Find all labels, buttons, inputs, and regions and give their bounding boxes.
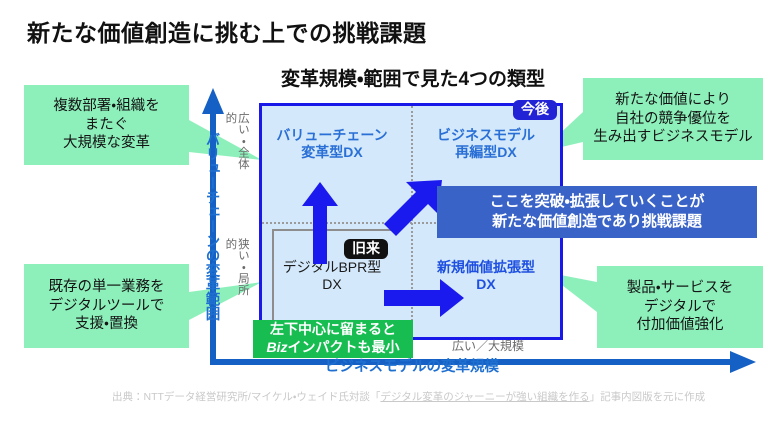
quadrant-br-line1: 新規価値拡張型: [414, 259, 558, 276]
callout-bl-line2: デジタルツールで: [49, 297, 165, 316]
banner-line1: ここを突破・拡張していくことが: [490, 192, 705, 212]
axis-x-label: ビジネスモデルの変革規模: [272, 355, 552, 376]
axis-x-tick-right: 広い／大規模: [452, 340, 524, 353]
highlight-banner: ここを突破・拡張していくことが 新たな価値創造であり挑戦課題: [437, 186, 757, 238]
quadrant-tr-line2: 再編型DX: [414, 144, 558, 161]
callout-bottom-center: 左下中心に留まると Bizインパクトも最小: [253, 320, 413, 358]
arrow-diagonal-up-right: [378, 178, 444, 244]
quadrant-tl-line2: 変革型DX: [262, 144, 402, 161]
quadrant-tr-line1: ビジネスモデル: [414, 127, 558, 144]
callout-bottom-right: 製品・サービスを デジタルで 付加価値強化: [597, 266, 763, 348]
callout-bl-line3: 支援・置換: [75, 315, 138, 334]
callout-tr-line3: 生み出すビジネスモデル: [593, 128, 753, 147]
callout-bottom-left: 既存の単一業務を デジタルツールで 支援・置換: [24, 264, 189, 348]
page-title: 新たな価値創造に挑む上での挑戦課題: [27, 14, 427, 48]
callout-bl-line1: 既存の単一業務を: [49, 278, 165, 297]
callout-top-left: 複数部署・組織を またぐ 大規模な変革: [24, 85, 189, 165]
callout-tl-line3: 大規模な変革: [63, 134, 150, 153]
axis-y-tick-top: 広い・全体的: [224, 112, 249, 174]
callout-br-line2: デジタルで: [644, 298, 716, 317]
callout-tl-line2: またぐ: [85, 116, 129, 135]
callout-bc-line2-rest: インパクトも最小: [288, 339, 400, 355]
banner-line2: 新たな価値創造であり挑戦課題: [492, 212, 702, 232]
arrow-right: [384, 278, 464, 318]
callout-br-line3: 付加価値強化: [637, 316, 724, 335]
callout-tr-line2: 自社の競争優位を: [615, 110, 731, 129]
arrow-up: [300, 182, 340, 264]
callout-bc-line1: 左下中心に留まると: [270, 321, 396, 339]
quadrant-label-bottom-left: デジタルBPR型 DX: [262, 259, 402, 293]
slide-canvas: 新たな価値創造に挑む上での挑戦課題 変革規模・範囲で見た4つの類型 バリューチェ…: [0, 0, 780, 429]
axis-y-tick-bottom: 狭い・局所的: [224, 238, 249, 300]
footer-link[interactable]: デジタル変革のジャーニーが強い組織を作る: [380, 391, 589, 403]
callout-bc-line2-italic: Biz: [267, 339, 288, 355]
quadrant-bl-line2: DX: [262, 276, 402, 293]
axis-y-label: バリューチェーンの変革範囲: [201, 117, 223, 335]
chart-heading: 変革規模・範囲で見た4つの類型: [248, 64, 578, 91]
footer-suffix: 」記事内図版を元に作成: [590, 391, 706, 403]
quadrant-label-top-right: ビジネスモデル 再編型DX: [414, 127, 558, 161]
quadrant-label-top-left: バリューチェーン 変革型DX: [262, 127, 402, 161]
badge-legacy: 旧来: [344, 239, 388, 259]
axis-x-arrowhead: [730, 351, 756, 373]
callout-tl-line1: 複数部署・組織を: [53, 97, 159, 116]
axis-y-arrowhead: [202, 88, 224, 114]
callout-top-right: 新たな価値により 自社の競争優位を 生み出すビジネスモデル: [583, 78, 763, 160]
badge-future: 今後: [513, 100, 557, 120]
callout-tr-line1: 新たな価値により: [615, 91, 731, 110]
source-footer: 出典：NTTデータ経営研究所/マイケル・ウェイド氏対談「デジタル変革のジャーニー…: [112, 389, 705, 404]
footer-prefix: 出典：NTTデータ経営研究所/マイケル・ウェイド氏対談「: [112, 391, 380, 403]
quadrant-tl-line1: バリューチェーン: [262, 127, 402, 144]
callout-br-line1: 製品・サービスを: [627, 279, 733, 298]
